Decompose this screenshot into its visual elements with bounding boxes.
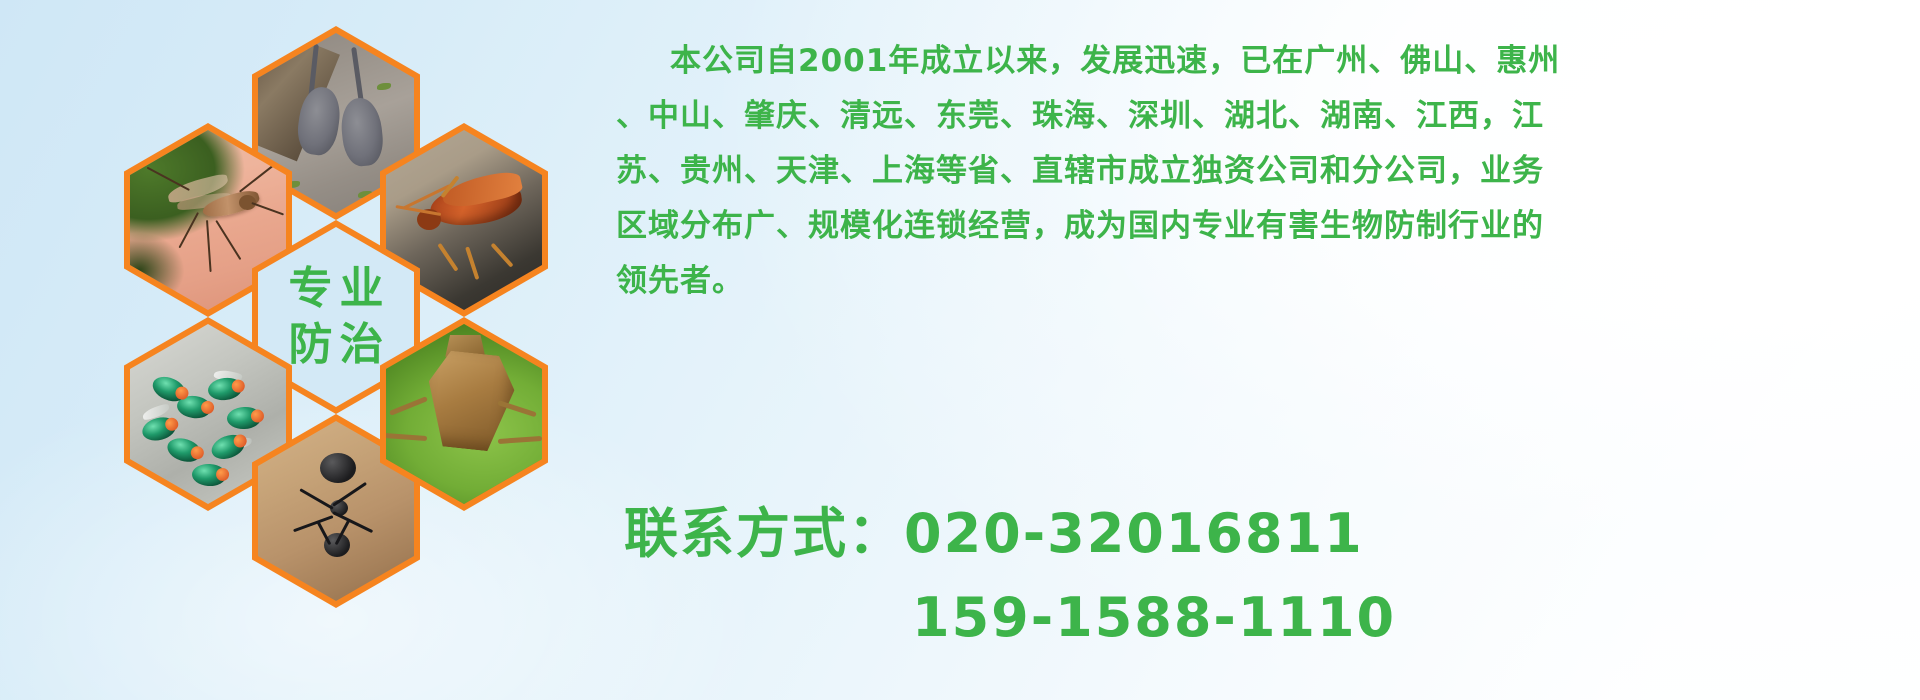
fly-body <box>165 434 204 465</box>
mosquito-leg <box>206 220 212 272</box>
copy-line-3: 苏、贵州、天津、上海等省、直辖市成立独资公司和分公司，业务 <box>616 144 1908 199</box>
rat-tail <box>351 47 364 103</box>
slogan-line-2: 防治 <box>282 322 391 368</box>
hex-cell-stink-bug[interactable] <box>380 317 548 511</box>
mosquito-leg <box>147 167 190 191</box>
company-description: 本公司自2001年成立以来，发展迅速，已在广州、佛山、惠州 、中山、肇庆、清远、… <box>616 34 1908 309</box>
cockroach-leg <box>491 242 514 267</box>
slogan-line-1: 专业 <box>282 266 391 312</box>
contact-secondary-phone[interactable]: 159-1588-1110 <box>624 576 1914 660</box>
honeycomb-cluster: 专业 防治 <box>86 4 586 564</box>
fly-body <box>208 430 247 462</box>
ant-leg <box>332 482 367 507</box>
leaf-debris <box>377 83 391 90</box>
bug-leg <box>386 432 427 440</box>
ant-gaster <box>320 453 356 483</box>
copy-line-2: 、中山、肇庆、清远、东莞、珠海、深圳、湖北、湖南、江西，江 <box>616 89 1908 144</box>
mosquito-leg <box>239 164 275 193</box>
ant-leg <box>332 511 373 533</box>
rat-body <box>339 96 386 168</box>
copy-line-1: 本公司自2001年成立以来，发展迅速，已在广州、佛山、惠州 <box>616 34 1908 89</box>
copy-line-5: 领先者。 <box>616 254 1908 309</box>
cockroach-leg <box>437 242 458 271</box>
bug-leg <box>389 396 428 416</box>
cockroach-leg <box>465 247 479 281</box>
bug-leg <box>498 436 542 444</box>
ant-leg <box>293 515 333 532</box>
mosquito-leg <box>216 220 242 260</box>
contact-info: 联系方式：020-32016811 159-1588-1110 <box>624 492 1914 660</box>
promo-banner: 专业 防治 <box>0 0 1920 700</box>
fly-body <box>207 376 243 401</box>
contact-primary-phone[interactable]: 联系方式：020-32016811 <box>624 492 1914 576</box>
ant-leg <box>299 489 333 511</box>
copy-line-4: 区域分布广、规模化连锁经营，成为国内专业有害生物防制行业的 <box>616 199 1908 254</box>
fly-body <box>192 463 227 487</box>
mosquito-proboscis <box>251 202 284 216</box>
mosquito-leg <box>178 212 199 248</box>
